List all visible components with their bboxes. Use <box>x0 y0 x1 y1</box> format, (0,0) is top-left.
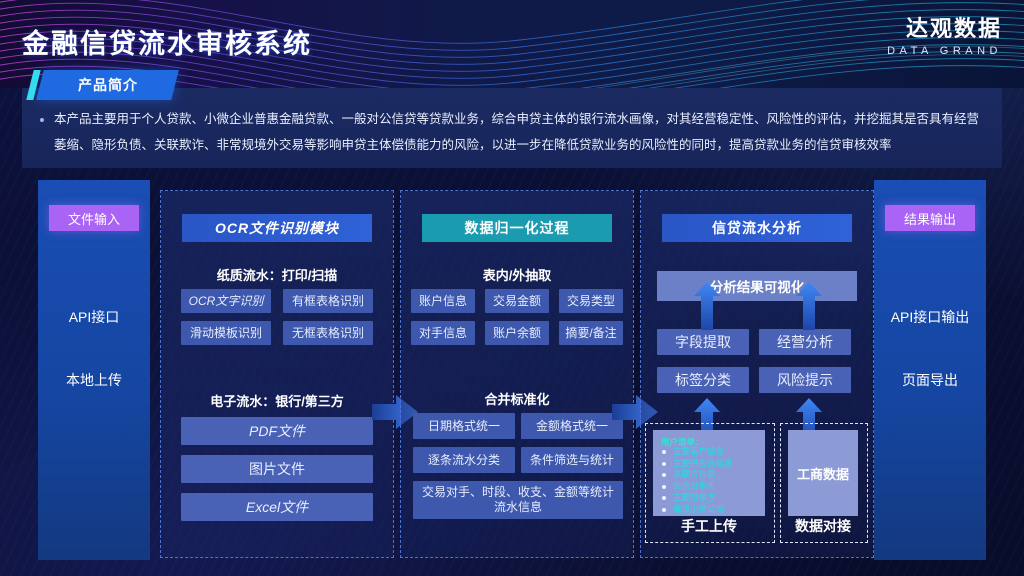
page-title: 金融信贷流水审核系统 <box>22 22 312 61</box>
intro-text: 本产品主要用于个人贷款、小微企业普惠金融贷款、一般对公信贷等贷款业务，综合申贷主… <box>54 106 986 158</box>
stage3-header[interactable]: 信贷流水分析 <box>662 214 852 242</box>
chip-date-format[interactable]: 日期格式统一 <box>413 413 515 439</box>
list-item: 主要供应商信息 <box>673 458 733 470</box>
chip-amount-format[interactable]: 金额格式统一 <box>521 413 623 439</box>
output-item-api[interactable]: API接口输出 <box>874 307 986 327</box>
result-output-pill-label: 结果输出 <box>904 209 956 228</box>
file-input-pill[interactable]: 文件输入 <box>49 205 139 231</box>
business-data-card[interactable]: 工商数据 <box>788 430 858 516</box>
intro-tab[interactable]: 产品简介 <box>36 70 178 100</box>
stage-normalization: 数据归一化过程 表内/外抽取 账户信息 交易金额 交易类型 对手信息 账户余额 … <box>400 190 634 558</box>
slide-root: 金融信贷流水审核系统 达观数据 DATA GRAND 本产品主要用于个人贷款、小… <box>0 0 1024 576</box>
bullet-icon <box>40 118 44 122</box>
input-item-local-upload[interactable]: 本地上传 <box>38 370 150 390</box>
chip-ocr-text[interactable]: OCR文字识别 <box>181 289 271 313</box>
chip-image-file[interactable]: 图片文件 <box>181 455 373 483</box>
stage2-group2-title: 合并标准化 <box>401 389 633 408</box>
chip-filter-statistics[interactable]: 条件筛选与统计 <box>521 447 623 473</box>
chip-excel-file[interactable]: Excel文件 <box>181 493 373 521</box>
list-item: 失信对手方 <box>673 481 733 493</box>
up-arrow-right <box>796 282 822 330</box>
visualization-box[interactable]: 分析结果可视化 <box>657 271 857 301</box>
stage1-group1-title: 纸质流水：打印/扫描 <box>161 265 393 284</box>
list-item: 主要担保方 <box>673 492 733 504</box>
file-input-column: 文件输入 API接口 本地上传 <box>38 180 150 560</box>
intro-panel: 本产品主要用于个人贷款、小微企业普惠金融贷款、一般对公信贷等贷款业务，综合申贷主… <box>22 88 1002 168</box>
chip-counterparty-info[interactable]: 对手信息 <box>411 321 475 345</box>
chip-statistics-summary[interactable]: 交易对手、时段、收支、金额等统计流水信息 <box>413 481 623 519</box>
chip-account-info[interactable]: 账户信息 <box>411 289 475 313</box>
user-list-card[interactable]: 用户清单： 主要客户信息 主要供应商信息 关联方信息 失信对手方 主要担保方 非… <box>653 430 765 516</box>
file-input-pill-label: 文件输入 <box>68 209 120 228</box>
result-output-column: 结果输出 API接口输出 页面导出 <box>874 180 986 560</box>
logo-text-en: DATA GRAND <box>887 46 1002 57</box>
up-arrow-left <box>694 282 720 330</box>
list-item: 关联方信息 <box>673 469 733 481</box>
chip-risk-alert[interactable]: 风险提示 <box>759 367 851 393</box>
chip-row-classification[interactable]: 逐条流水分类 <box>413 447 515 473</box>
user-list: 主要客户信息 主要供应商信息 关联方信息 失信对手方 主要担保方 非法小贷公司 <box>659 446 733 516</box>
stage2-group1-title: 表内/外抽取 <box>401 265 633 284</box>
logo-text-cn: 达观数据 <box>887 18 1002 40</box>
chip-business-analysis[interactable]: 经营分析 <box>759 329 851 355</box>
chip-borderless-table[interactable]: 无框表格识别 <box>283 321 373 345</box>
chip-account-balance[interactable]: 账户余额 <box>485 321 549 345</box>
input-item-api[interactable]: API接口 <box>38 307 150 327</box>
chip-slide-template[interactable]: 滑动模板识别 <box>181 321 271 345</box>
chip-pdf-file[interactable]: PDF文件 <box>181 417 373 445</box>
chip-transaction-type[interactable]: 交易类型 <box>559 289 623 313</box>
chip-bordered-table[interactable]: 有框表格识别 <box>283 289 373 313</box>
output-item-page-export[interactable]: 页面导出 <box>874 370 986 390</box>
chip-transaction-amount[interactable]: 交易金额 <box>485 289 549 313</box>
stage1-header[interactable]: OCR文件识别模块 <box>182 214 372 242</box>
intro-tab-label: 产品简介 <box>78 75 138 95</box>
chip-summary-remark[interactable]: 摘要/备注 <box>559 321 623 345</box>
chip-field-extraction[interactable]: 字段提取 <box>657 329 749 355</box>
list-item: 非法小贷公司 <box>673 504 733 516</box>
stage2-header[interactable]: 数据归一化过程 <box>422 214 612 242</box>
data-docking-label: 数据对接 <box>780 516 866 536</box>
chip-label-classification[interactable]: 标签分类 <box>657 367 749 393</box>
manual-upload-label: 手工上传 <box>645 516 773 536</box>
list-item: 主要客户信息 <box>673 446 733 458</box>
brand-logo: 达观数据 DATA GRAND <box>887 18 1002 57</box>
stage1-group2-title: 电子流水：银行/第三方 <box>161 391 393 410</box>
flow-diagram: 文件输入 API接口 本地上传 OCR文件识别模块 纸质流水：打印/扫描 OCR… <box>0 180 1024 576</box>
result-output-pill[interactable]: 结果输出 <box>885 205 975 231</box>
stage-ocr-module: OCR文件识别模块 纸质流水：打印/扫描 OCR文字识别 有框表格识别 滑动模板… <box>160 190 394 558</box>
